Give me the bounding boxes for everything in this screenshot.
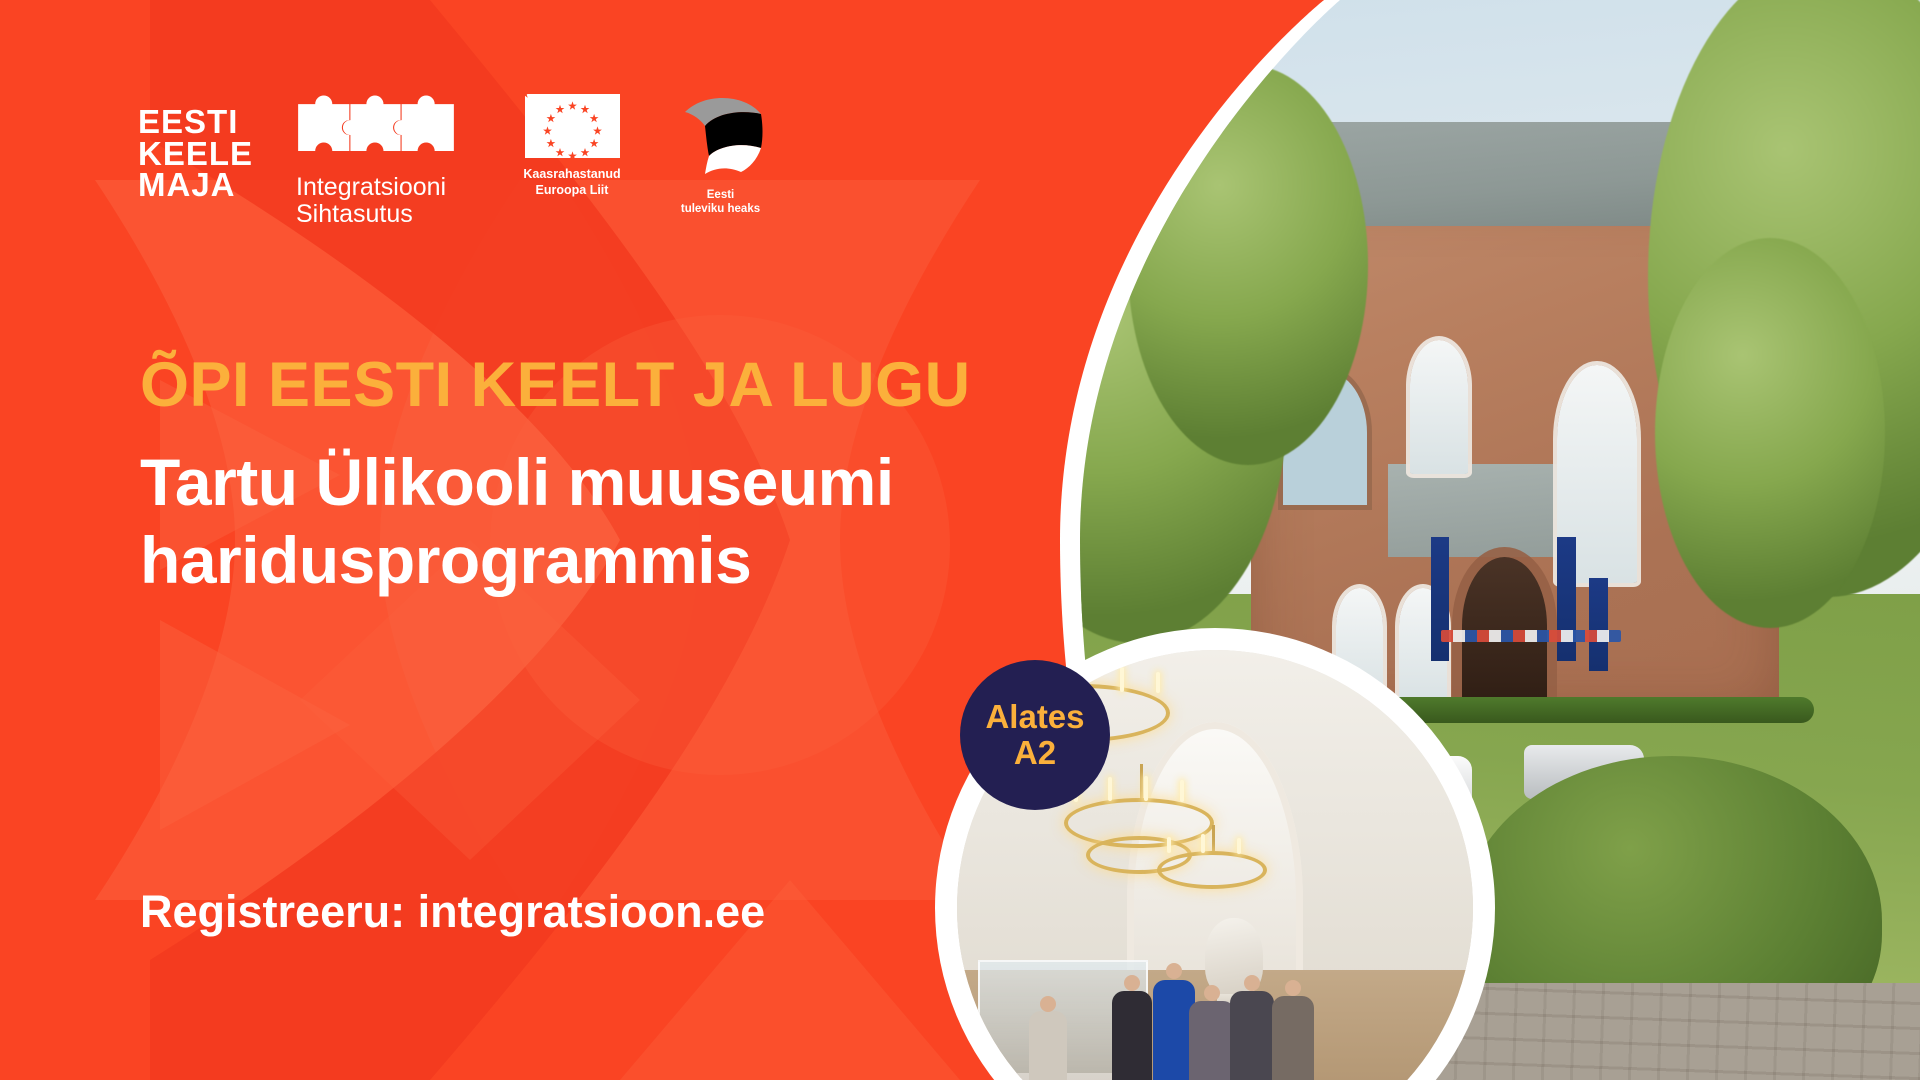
ekm-line-2: KEELE (138, 138, 258, 170)
integr-line-1: Integratsiooni (296, 174, 471, 201)
eesti-tuleviku-heaks-logo: Eesti tuleviku heaks (663, 90, 778, 217)
headline-line-1: Tartu Ülikooli muuseumi (140, 444, 980, 522)
est-caption-line-1: Eesti (663, 188, 778, 202)
ekm-line-1: EESTI (138, 106, 258, 138)
headline-kicker: ÕPI EESTI KEELT JA LUGU (140, 352, 980, 418)
estonian-flag-wave-icon (663, 90, 778, 183)
visitor (1230, 991, 1274, 1080)
chandelier (1153, 825, 1271, 935)
puzzle-pieces-icon (296, 88, 456, 166)
visitor (1189, 1001, 1235, 1080)
level-badge: Alates A2 (960, 660, 1110, 810)
entrance-banner (1557, 537, 1575, 661)
tree (1655, 238, 1885, 628)
visitor (1112, 991, 1152, 1080)
headline-block: ÕPI EESTI KEELT JA LUGU Tartu Ülikooli m… (140, 352, 980, 600)
european-union-flag-logo: Kaasrahastanud Euroopa Liit (513, 94, 631, 198)
eu-caption-line-2: Euroopa Liit (513, 183, 631, 199)
visitor (1272, 996, 1314, 1080)
tree (1128, 65, 1368, 465)
ekm-line-3: MAJA (138, 169, 258, 201)
logo-row: EESTI KEELE MAJA Integratsiooni Sihtasut… (138, 88, 778, 227)
badge-line-2: A2 (1014, 735, 1056, 771)
entrance-banner (1589, 578, 1607, 671)
eu-flag-icon (525, 94, 620, 158)
headline-line-2: haridusprogrammis (140, 522, 980, 600)
eu-caption-line-1: Kaasrahastanud (513, 167, 631, 183)
badge-line-1: Alates (985, 699, 1084, 735)
integratsiooni-sihtasutus-logo: Integratsiooni Sihtasutus (296, 88, 471, 227)
integr-line-2: Sihtasutus (296, 201, 471, 228)
visitor (1029, 1011, 1067, 1080)
registration-cta[interactable]: Registreeru: integratsioon.ee (140, 886, 765, 938)
est-caption-line-2: tuleviku heaks (663, 202, 778, 216)
gothic-window (1410, 340, 1468, 475)
eesti-keele-maja-logo: EESTI KEELE MAJA (138, 106, 258, 201)
